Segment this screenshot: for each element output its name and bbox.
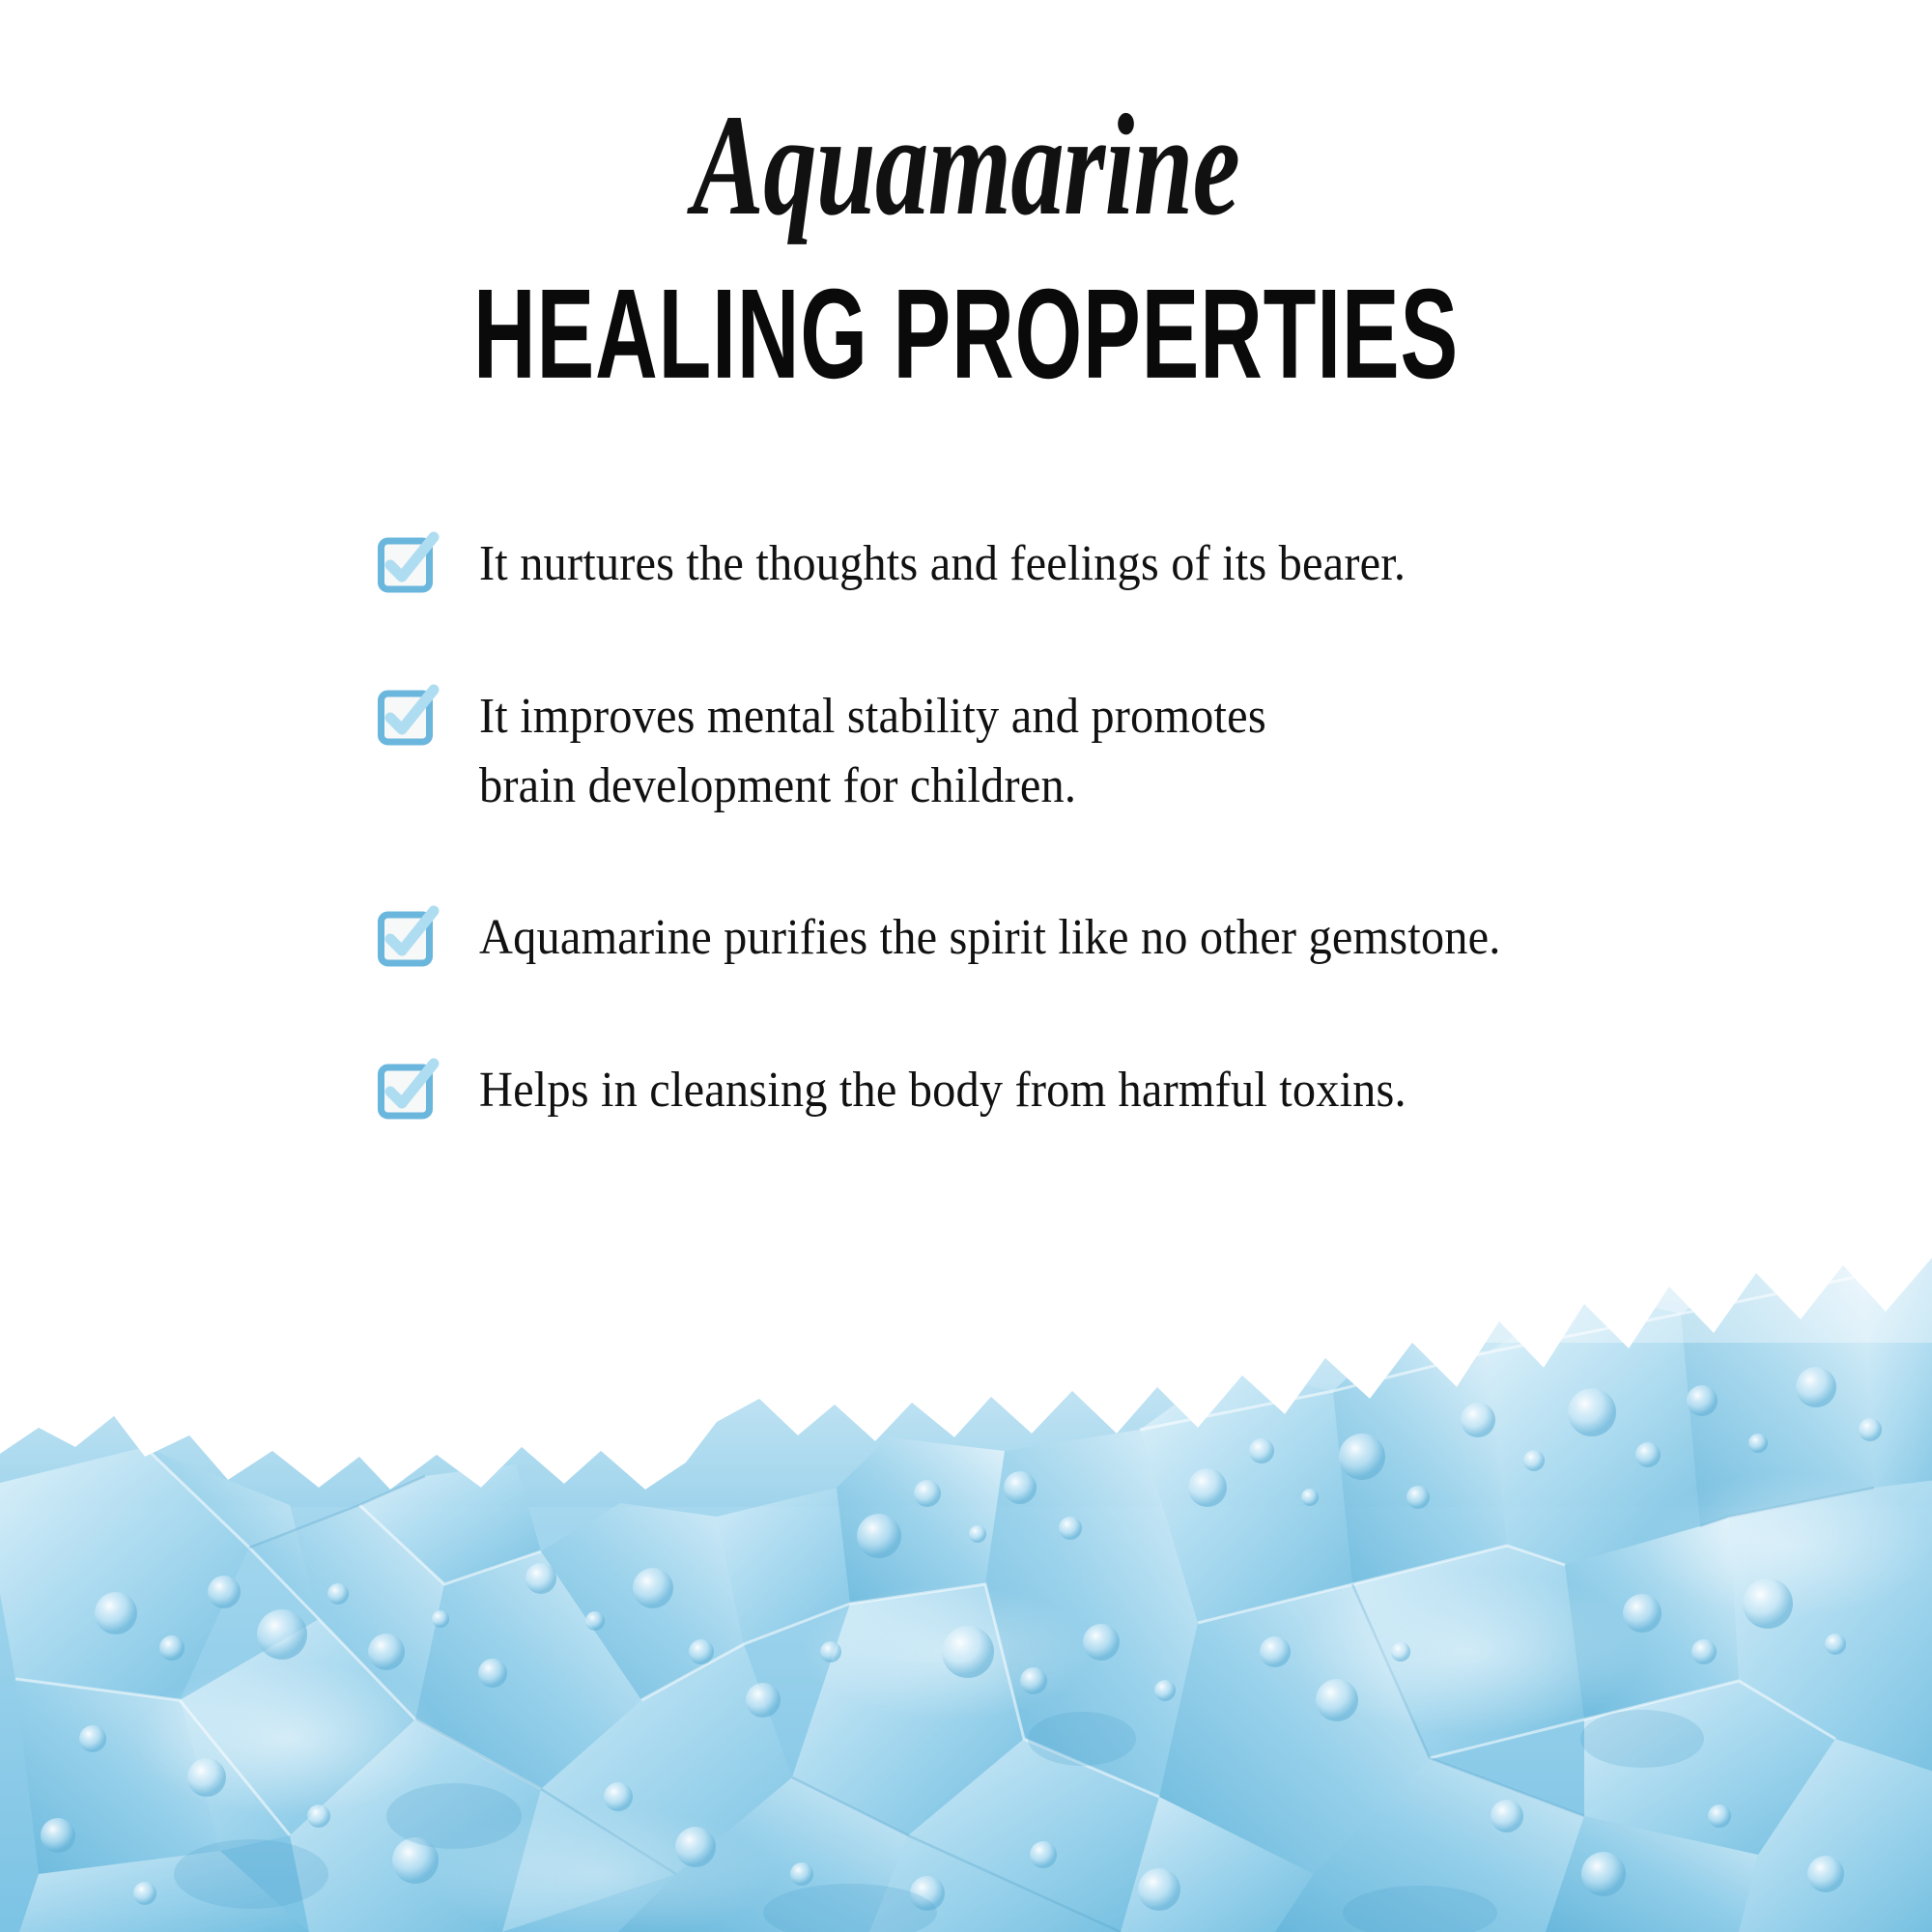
- list-item-label: It improves mental stability and promote…: [479, 682, 1266, 821]
- list-item-label: Helps in cleansing the body from harmful…: [479, 1056, 1406, 1125]
- list-item-label: Aquamarine purifies the spirit like no o…: [479, 903, 1501, 973]
- list-item-label: It nurtures the thoughts and feelings of…: [479, 529, 1406, 599]
- page-subtitle: HEALING PROPERTIES: [193, 270, 1739, 398]
- checked-checkbox-icon: [379, 909, 437, 967]
- header: Aquamarine HEALING PROPERTIES: [0, 0, 1932, 379]
- page-title: Aquamarine: [251, 93, 1681, 238]
- list-item: It nurtures the thoughts and feelings of…: [379, 529, 1808, 599]
- ice-cubes-photo: [0, 1198, 1932, 1932]
- checked-checkbox-icon: [379, 1062, 437, 1120]
- list-item: It improves mental stability and promote…: [379, 682, 1808, 821]
- checked-checkbox-icon: [379, 688, 437, 746]
- checked-checkbox-icon: [379, 535, 437, 593]
- list-item: Helps in cleansing the body from harmful…: [379, 1056, 1808, 1125]
- poster-canvas: Aquamarine HEALING PROPERTIES It nurture…: [0, 0, 1932, 1932]
- list-item: Aquamarine purifies the spirit like no o…: [379, 903, 1808, 973]
